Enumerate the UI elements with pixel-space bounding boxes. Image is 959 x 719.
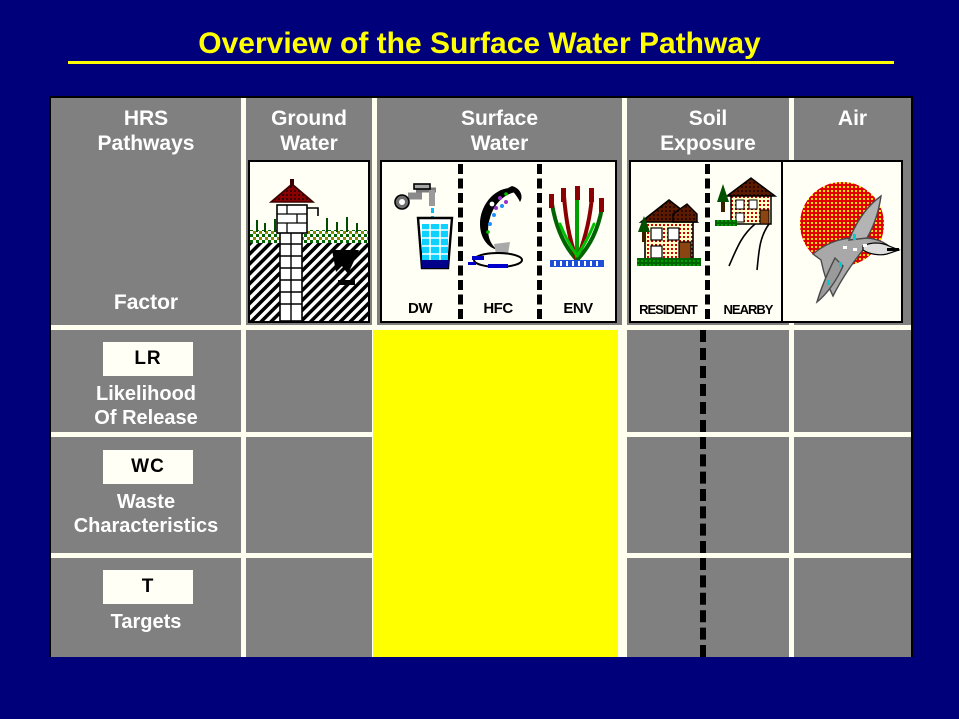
soil-exposure-subpanel-label-resident: RESIDENT (632, 302, 704, 317)
surface-water-highlight-block[interactable] (373, 330, 618, 657)
matrix-cell-air-t[interactable] (794, 558, 911, 657)
surface-water-icon: DW (380, 160, 617, 323)
page-title: Overview of the Surface Water Pathway (0, 26, 959, 62)
soil-exposure-body-divider-lr (700, 330, 706, 432)
matrix-cell-air-lr[interactable] (794, 330, 911, 432)
row-badge-wc: WC (103, 450, 193, 484)
matrix-corner-header: HRS Pathways Factor (51, 98, 241, 325)
house-icon (635, 184, 703, 280)
soil-exposure-body-divider-t (700, 558, 706, 657)
title-underline (68, 61, 894, 64)
row-caption-lr: Likelihood Of Release (51, 382, 241, 430)
corner-factor-label: Factor (51, 291, 241, 315)
bird-sun-icon (781, 160, 903, 323)
slide-canvas: Overview of the Surface Water Pathway HR… (0, 0, 959, 719)
row-label-cell-wc: WC Waste Characteristics (51, 437, 241, 553)
surface-water-header-label: Surface Water (377, 106, 622, 156)
column-header-soil-exposure[interactable]: Soil Exposure (627, 98, 789, 325)
ground-water-header-label: Ground Water (246, 106, 372, 156)
soil-exposure-divider (705, 164, 710, 319)
soil-exposure-header-label: Soil Exposure (627, 106, 789, 156)
surface-water-subpanel-label-env: ENV (542, 300, 614, 317)
surface-water-subpanel-label-hfc: HFC (462, 300, 534, 317)
matrix-cell-ground-water-t[interactable] (246, 558, 372, 657)
water-well-art (250, 162, 368, 321)
column-header-air[interactable]: Air (794, 98, 911, 325)
soil-exposure-icon: RESIDENT (629, 160, 787, 323)
matrix-cell-air-wc[interactable] (794, 437, 911, 553)
matrix-cell-soil-exposure-lr[interactable] (627, 330, 789, 432)
column-header-surface-water[interactable]: Surface Water (377, 98, 622, 325)
air-header-label: Air (794, 106, 911, 131)
bird-sun-art (783, 162, 901, 321)
surface-water-divider-2 (537, 164, 542, 319)
corner-top-label: HRS Pathways (51, 106, 241, 156)
aquatic-plants-icon (544, 184, 610, 272)
row-caption-wc: Waste Characteristics (51, 490, 241, 538)
house-road-icon (711, 172, 785, 282)
row-caption-t: Targets (51, 610, 241, 634)
fish-icon (466, 182, 530, 272)
surface-water-subpanel-label-dw: DW (384, 300, 456, 317)
row-badge-t: T (103, 570, 193, 604)
row-label-cell-t: T Targets (51, 558, 241, 657)
matrix-cell-soil-exposure-t[interactable] (627, 558, 789, 657)
row-label-cell-lr: LR Likelihood Of Release (51, 330, 241, 432)
water-well-icon (248, 160, 370, 323)
row-badge-lr: LR (103, 342, 193, 376)
hrs-pathway-matrix: HRS Pathways Factor Ground Water (49, 96, 913, 657)
column-header-ground-water[interactable]: Ground Water (246, 98, 372, 325)
matrix-cell-soil-exposure-wc[interactable] (627, 437, 789, 553)
matrix-cell-ground-water-wc[interactable] (246, 437, 372, 553)
matrix-cell-ground-water-lr[interactable] (246, 330, 372, 432)
surface-water-divider-1 (458, 164, 463, 319)
faucet-glass-icon (388, 180, 454, 272)
soil-exposure-subpanel-label-nearby: NEARBY (710, 302, 786, 317)
soil-exposure-body-divider-wc (700, 437, 706, 553)
matrix-inner-surface: HRS Pathways Factor Ground Water (51, 98, 911, 657)
